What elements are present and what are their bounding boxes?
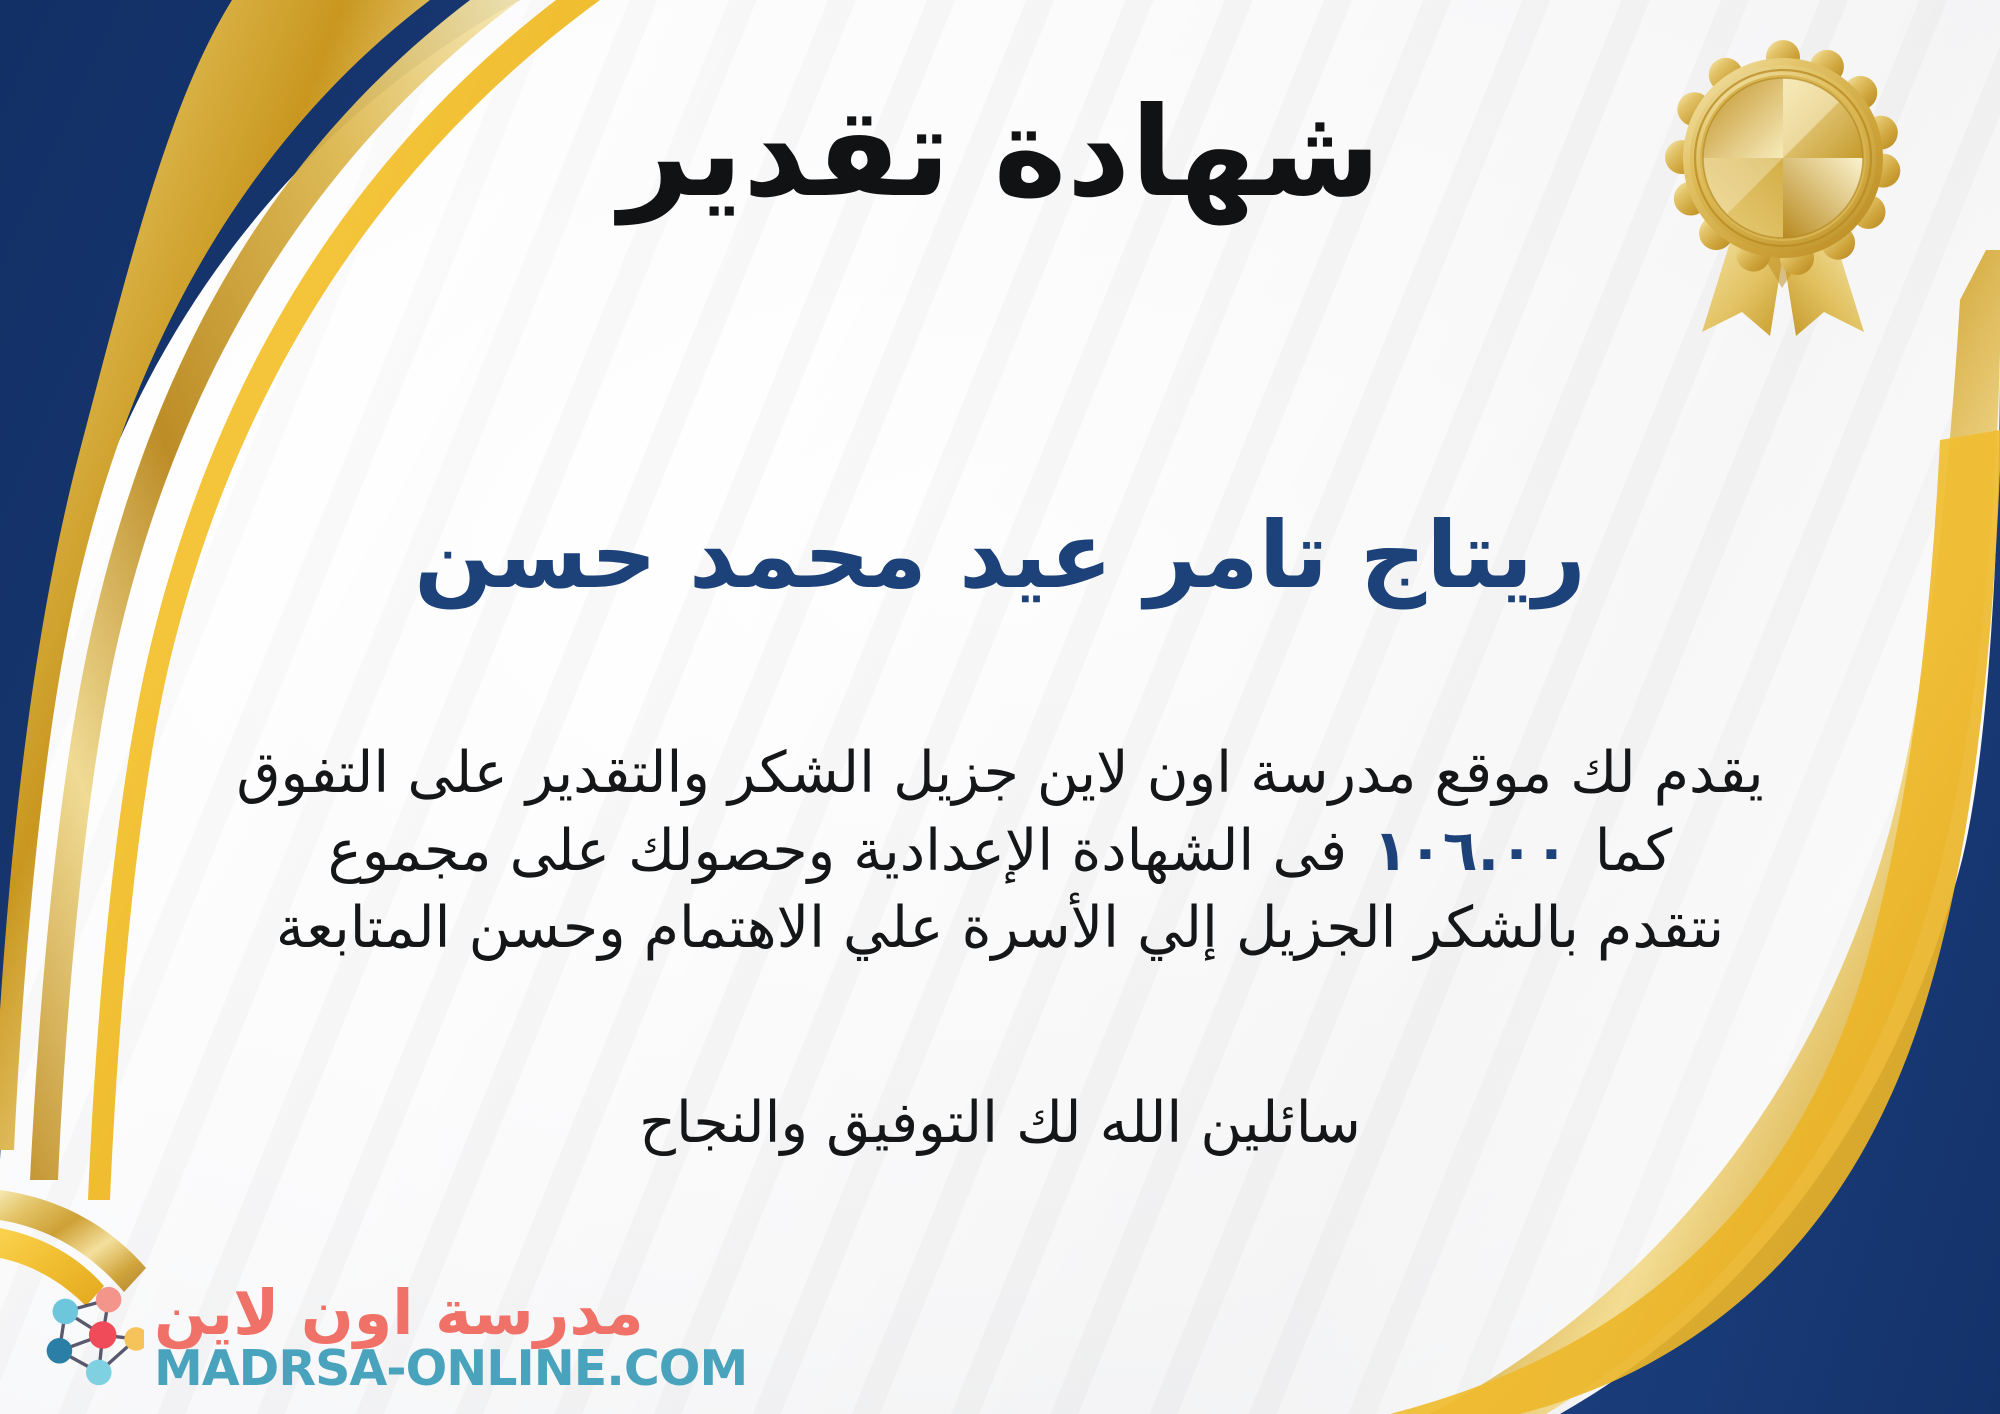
brand-logo[interactable]: مدرسة اون لاين MADRSA-ONLINE.COM <box>26 1278 747 1396</box>
certificate-content: شهادة تقدير ريتاج تامر عيد محمد حسن يقدم… <box>0 0 2000 1414</box>
certificate-canvas: شهادة تقدير ريتاج تامر عيد محمد حسن يقدم… <box>0 0 2000 1414</box>
brand-text: مدرسة اون لاين MADRSA-ONLINE.COM <box>154 1282 747 1393</box>
network-nodes-icon <box>26 1278 144 1396</box>
brand-website: MADRSA-ONLINE.COM <box>154 1344 747 1393</box>
recipient-name: ريتاج تامر عيد محمد حسن <box>0 505 2000 606</box>
page-title: شهادة تقدير <box>0 88 2000 218</box>
body-line-2: كما١٠٦.٠٠فى الشهادة الإعدادية وحصولك على… <box>60 813 1940 891</box>
body-line-1: يقدم لك موقع مدرسة اون لاين جزيل الشكر و… <box>60 735 1940 813</box>
certificate-body: يقدم لك موقع مدرسة اون لاين جزيل الشكر و… <box>60 735 1940 968</box>
closing-wish: سائلين الله لك التوفيق والنجاح <box>0 1090 2000 1156</box>
body-line-2-suffix: كما <box>1595 818 1672 884</box>
score-value: ١٠٦.٠٠ <box>1347 813 1595 891</box>
body-line-2-prefix: فى الشهادة الإعدادية وحصولك على مجموع <box>328 818 1347 884</box>
brand-arabic-name: مدرسة اون لاين <box>154 1282 644 1344</box>
body-line-3: نتقدم بالشكر الجزيل إلي الأسرة علي الاهت… <box>60 890 1940 968</box>
